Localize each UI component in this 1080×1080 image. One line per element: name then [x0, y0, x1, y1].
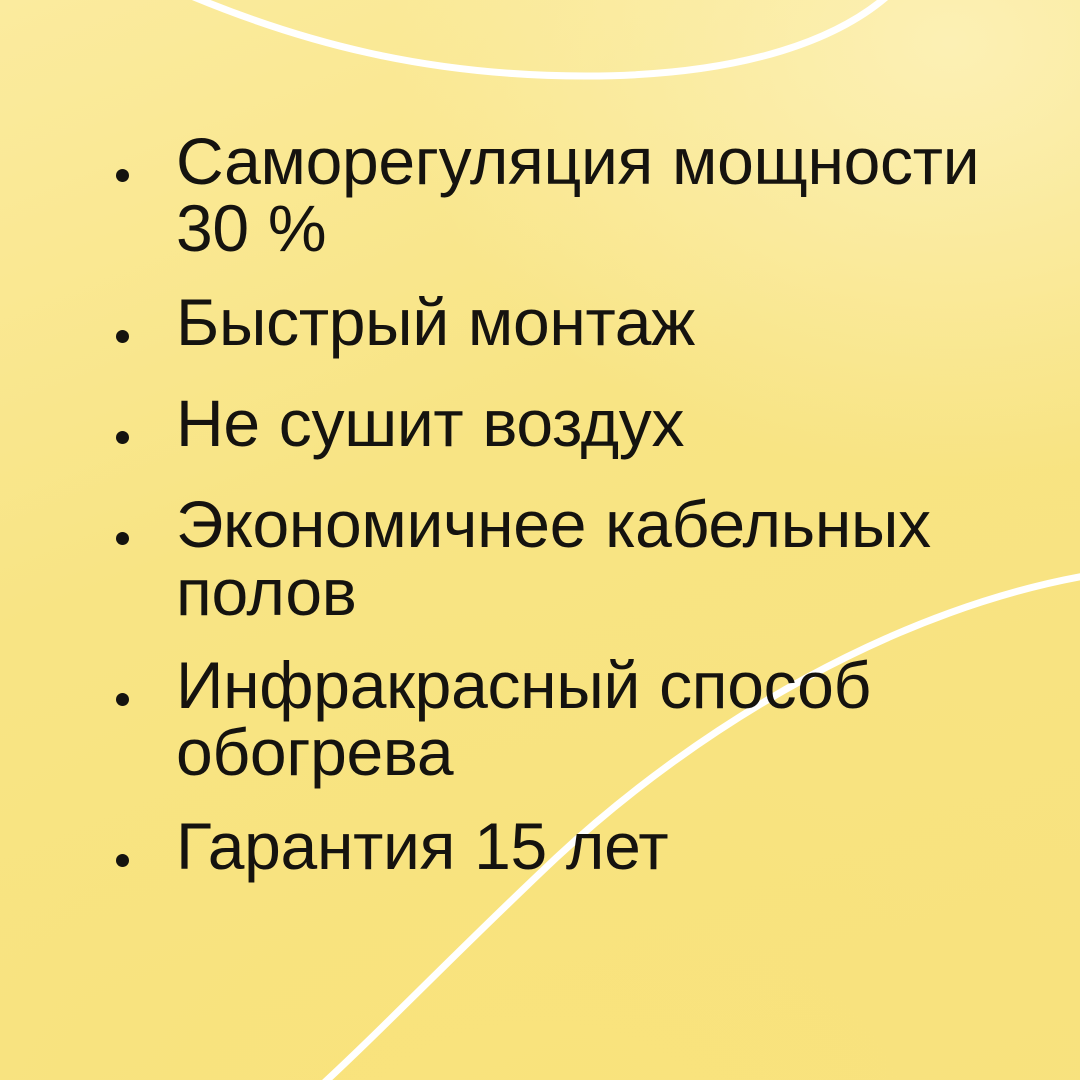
list-item: Не сушит воздух [104, 390, 984, 457]
list-item: Гарантия 15 лет [104, 813, 984, 880]
bullet-text: Гарантия 15 лет [176, 813, 984, 880]
bullet-text: Инфракрасный способ обогрева [176, 652, 984, 787]
dot-bullet-icon [116, 169, 129, 182]
list-item: Быстрый монтаж [104, 289, 984, 356]
bullet-text: Быстрый монтаж [176, 289, 984, 356]
bullet-text: Саморегуляция мощности 30 % [176, 128, 984, 263]
slide-canvas: Саморегуляция мощности 30 % Быстрый монт… [0, 0, 1080, 1080]
dot-bullet-icon [116, 431, 129, 444]
dot-bullet-icon [116, 330, 129, 343]
list-item: Инфракрасный способ обогрева [104, 652, 984, 787]
bullet-text: Не сушит воздух [176, 390, 984, 457]
feature-bullet-list: Саморегуляция мощности 30 % Быстрый монт… [104, 128, 984, 880]
dot-bullet-icon [116, 854, 129, 867]
dot-bullet-icon [116, 532, 129, 545]
dot-bullet-icon [116, 693, 129, 706]
list-item: Экономичнее кабельных полов [104, 491, 984, 626]
list-item: Саморегуляция мощности 30 % [104, 128, 984, 263]
bullet-text: Экономичнее кабельных полов [176, 491, 984, 626]
top-white-swoosh [168, 0, 900, 76]
